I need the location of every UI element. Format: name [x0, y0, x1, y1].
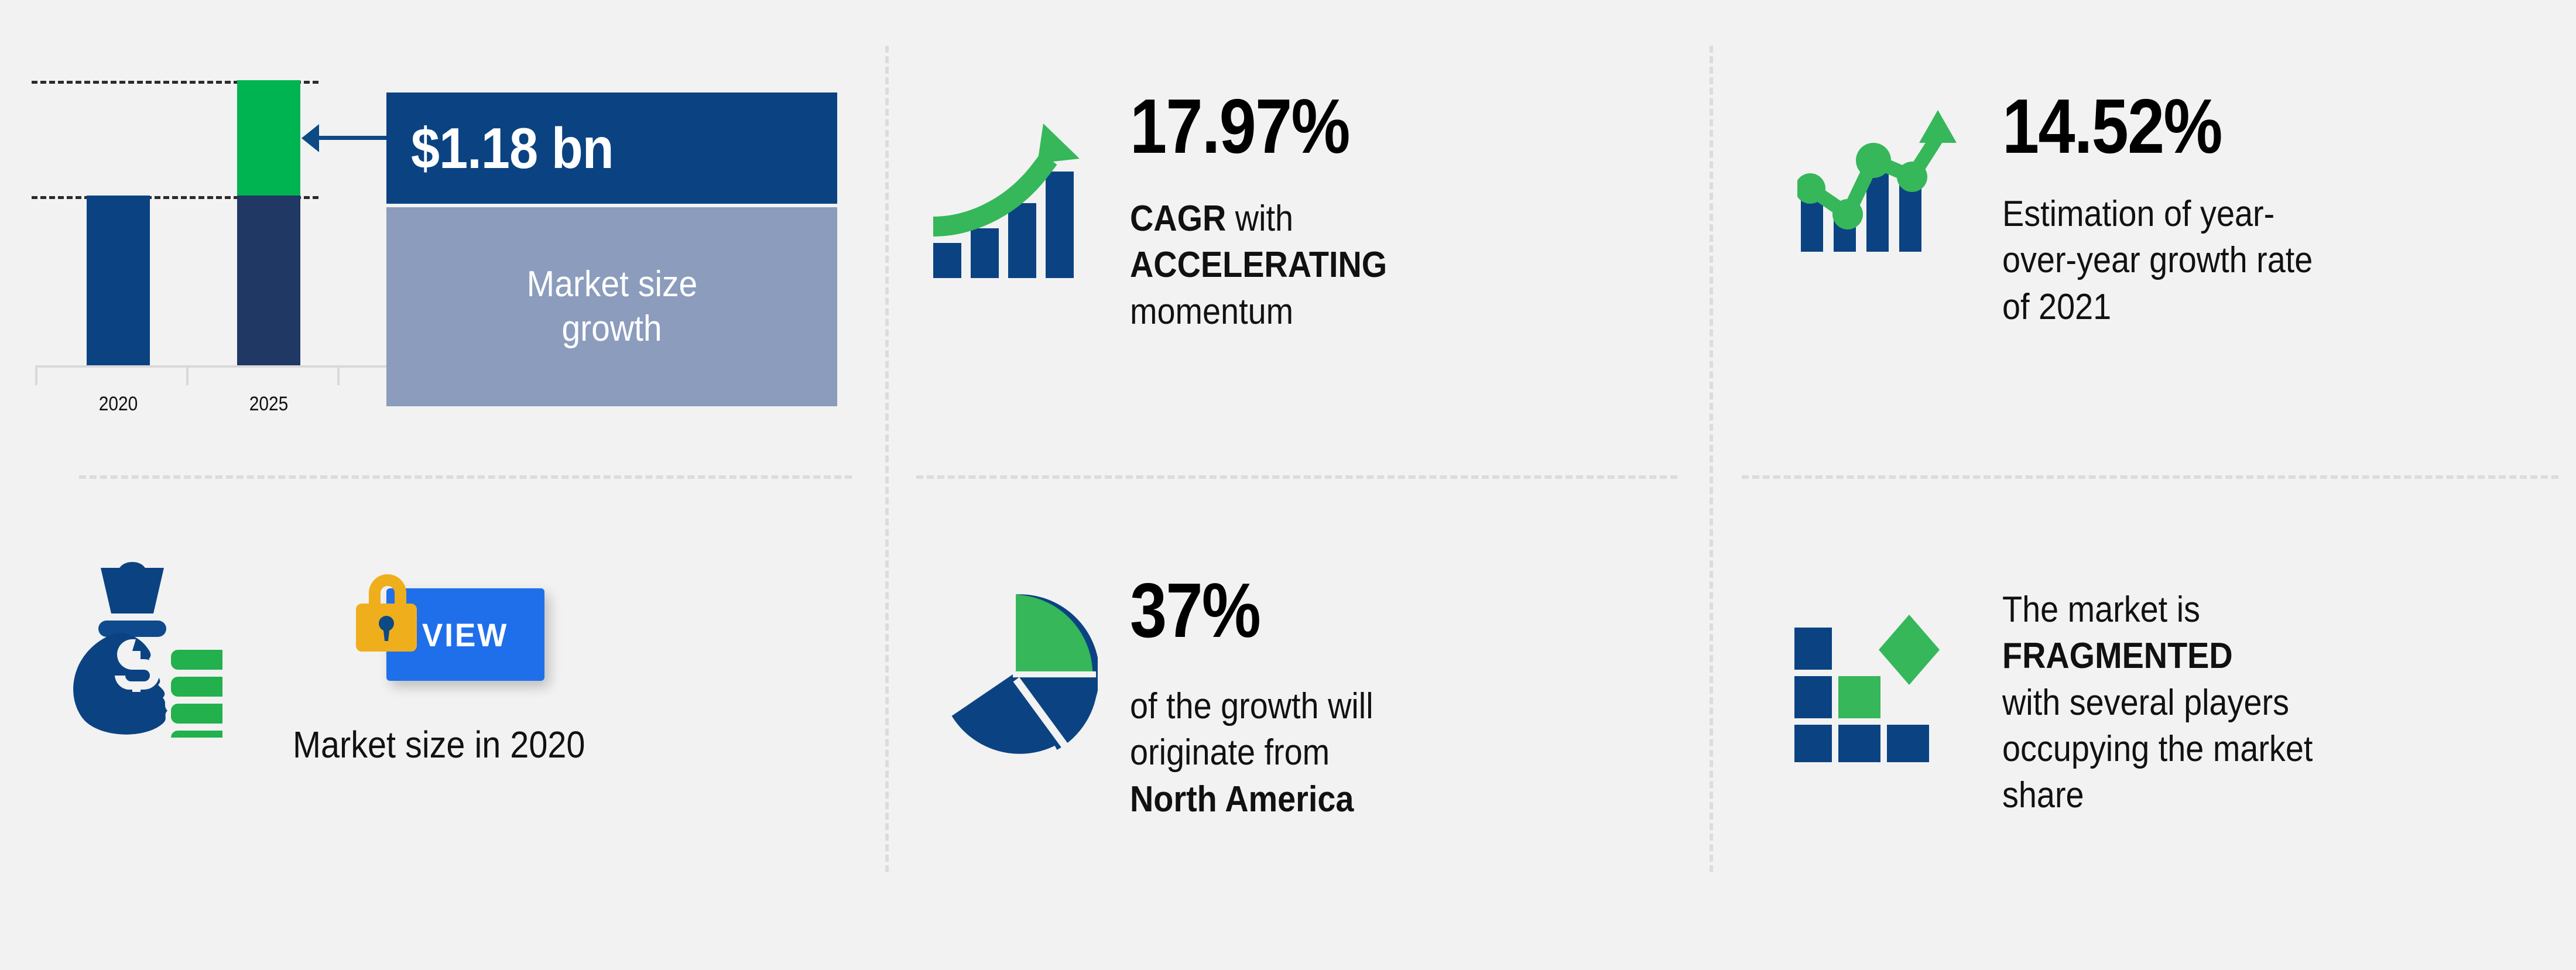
- fragmented-line4: occupying the market: [2002, 729, 2313, 769]
- infographic-canvas: 2020 2025 $1.18 bn Market size growth: [0, 0, 2576, 970]
- cagr-text-block: 17.97% CAGR with ACCELERATING momentum: [1130, 88, 1657, 335]
- fragmented-squares-icon: [1794, 610, 1970, 762]
- cagr-description: CAGR with ACCELERATING momentum: [1130, 196, 1604, 335]
- fragmented-line1: The market is: [2002, 589, 2200, 630]
- pie-chart-icon: [928, 589, 1098, 759]
- north-america-description: of the growth will originate from North …: [1130, 683, 1604, 822]
- money-bag-icon: [64, 562, 222, 741]
- fragmented-line2-bold: FRAGMENTED: [2002, 636, 2233, 676]
- yoy-value: 14.52%: [2002, 88, 2486, 165]
- panel-fragmented: The market is FRAGMENTED with several pl…: [1710, 475, 2576, 970]
- market-size-2020-label: Market size in 2020: [293, 723, 585, 766]
- panel-yoy: 14.52% Estimation of year- over-year gro…: [1710, 0, 2576, 468]
- yoy-line1: Estimation of year-: [2002, 194, 2274, 234]
- panel-north-america: 37% of the growth will originate from No…: [884, 475, 1710, 970]
- cagr-line1-bold: CAGR: [1130, 198, 1226, 239]
- fragmented-text-block: The market is FRAGMENTED with several pl…: [2002, 587, 2564, 819]
- north-america-text-block: 37% of the growth will originate from No…: [1130, 572, 1657, 822]
- north-america-value: 37%: [1130, 572, 1583, 649]
- na-line3-bold: North America: [1130, 779, 1354, 820]
- growth-bars-arrow-icon: [913, 102, 1089, 278]
- na-line1: of the growth will: [1130, 686, 1373, 726]
- yoy-text-block: 14.52% Estimation of year- over-year gro…: [2002, 88, 2564, 330]
- cagr-line3: momentum: [1130, 292, 1293, 332]
- yoy-description: Estimation of year- over-year growth rat…: [2002, 191, 2508, 330]
- cagr-value: 17.97%: [1130, 88, 1583, 165]
- na-line2: originate from: [1130, 732, 1330, 773]
- yoy-line2: over-year growth rate: [2002, 240, 2313, 280]
- fragmented-description: The market is FRAGMENTED with several pl…: [2002, 587, 2508, 819]
- fragmented-line5: share: [2002, 775, 2084, 815]
- view-button-label: VIEW: [422, 616, 508, 654]
- yoy-line3: of 2021: [2002, 287, 2111, 327]
- line-chart-bars-icon: [1797, 100, 1961, 252]
- fragmented-line3: with several players: [2002, 683, 2289, 723]
- panel-cagr: 17.97% CAGR with ACCELERATING momentum: [884, 0, 1710, 468]
- lock-icon: [351, 565, 427, 661]
- cagr-line2-bold: ACCELERATING: [1130, 245, 1387, 285]
- panel-market-size-2020: VIEW Market size in 2020: [0, 0, 878, 970]
- cagr-line1-rest: with: [1226, 198, 1293, 239]
